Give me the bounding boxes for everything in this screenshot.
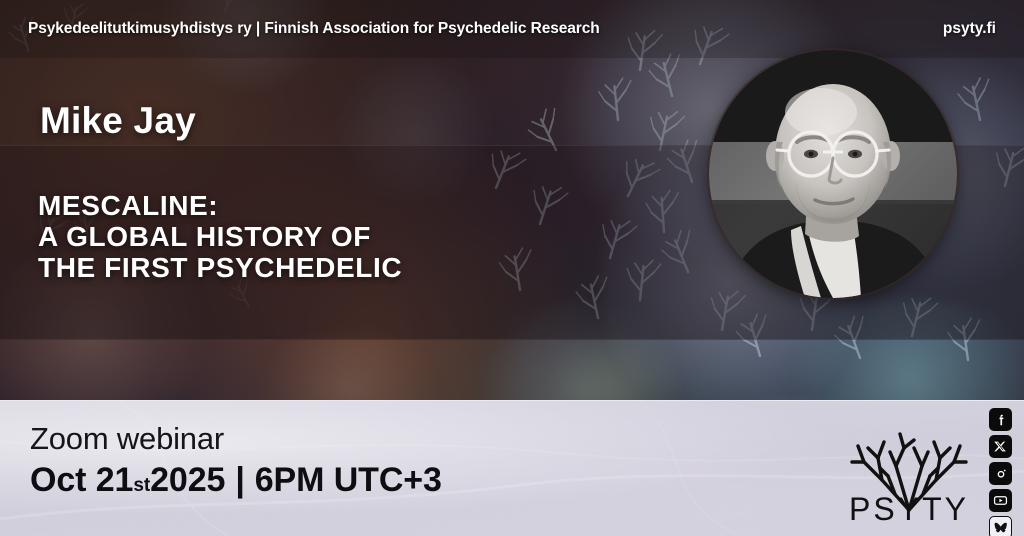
portrait-illustration bbox=[709, 50, 957, 298]
x-twitter-icon bbox=[994, 440, 1007, 453]
facebook-icon bbox=[994, 413, 1008, 427]
organization-name: Psykedeelitutkimusyhdistys ry | Finnish … bbox=[28, 20, 600, 38]
event-details: Zoom webinar Oct 21st 2025|6PM UTC+3 bbox=[30, 420, 442, 501]
talk-title-line-1: MESCALINE: bbox=[38, 190, 402, 221]
event-datetime: Oct 21st 2025|6PM UTC+3 bbox=[30, 459, 442, 501]
event-separator: | bbox=[225, 459, 254, 501]
x-twitter-link[interactable] bbox=[989, 435, 1012, 458]
poster-header: Psykedeelitutkimusyhdistys ry | Finnish … bbox=[0, 0, 1024, 58]
event-poster: Psykedeelitutkimusyhdistys ry | Finnish … bbox=[0, 0, 1024, 536]
speaker-portrait bbox=[709, 50, 957, 298]
youtube-link[interactable] bbox=[989, 489, 1012, 512]
event-format: Zoom webinar bbox=[30, 420, 442, 458]
psyty-wordmark: PSYTY bbox=[849, 491, 969, 522]
facebook-link[interactable] bbox=[989, 408, 1012, 431]
event-date-rest: 2025 bbox=[150, 459, 225, 501]
youtube-icon bbox=[993, 493, 1008, 508]
event-date-prefix: Oct 21 bbox=[30, 459, 133, 501]
talk-title-line-3: THE FIRST PSYCHEDELIC bbox=[38, 252, 402, 283]
instagram-icon bbox=[994, 467, 1008, 481]
speaker-name: Mike Jay bbox=[40, 100, 196, 142]
instagram-link[interactable] bbox=[989, 462, 1012, 485]
talk-title-line-2: A GLOBAL HISTORY OF bbox=[38, 221, 402, 252]
website-link[interactable]: psyty.fi bbox=[943, 20, 996, 38]
social-links bbox=[989, 408, 1012, 536]
talk-title: MESCALINE: A GLOBAL HISTORY OF THE FIRST… bbox=[38, 190, 402, 283]
bluesky-butterfly-icon bbox=[994, 521, 1008, 535]
bluesky-link[interactable] bbox=[989, 516, 1012, 536]
psyty-tree-mark: PSYTY bbox=[848, 418, 970, 522]
event-time: 6PM UTC+3 bbox=[255, 459, 442, 501]
psyty-logo[interactable]: PSYTY bbox=[848, 418, 970, 522]
